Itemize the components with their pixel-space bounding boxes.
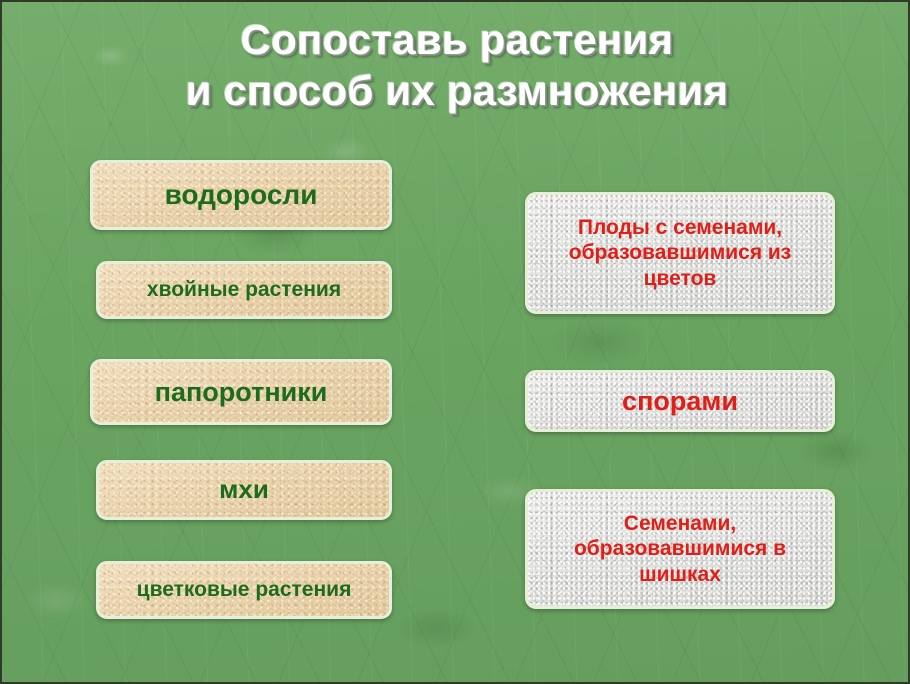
plant-card-label: цветковые растения bbox=[109, 577, 379, 602]
plant-card-label: хвойные растения bbox=[109, 277, 379, 302]
plant-card-label: мхи bbox=[109, 474, 379, 505]
plant-card-label: водоросли bbox=[103, 178, 379, 212]
page-title: Сопоставь растения и способ их размножен… bbox=[2, 14, 910, 116]
plant-card-paporotniki[interactable]: папоротники bbox=[90, 359, 392, 425]
method-card-label: Семенами, образовавшимися в шишках bbox=[538, 511, 822, 587]
method-card-label: спорами bbox=[538, 385, 822, 417]
method-card-label: Плоды с семенами, образовавшимися из цве… bbox=[538, 215, 822, 291]
plant-card-hvoynye-rasteniya[interactable]: хвойные растения bbox=[96, 261, 392, 319]
page-title-line-2: и способ их размножения bbox=[2, 65, 910, 116]
page-title-line-1: Сопоставь растения bbox=[2, 14, 910, 65]
method-card-semenami-v-shishkah[interactable]: Семенами, образовавшимися в шишках bbox=[525, 489, 835, 609]
method-card-sporami[interactable]: спорами bbox=[525, 370, 835, 432]
method-card-plody-s-semenami[interactable]: Плоды с семенами, образовавшимися из цве… bbox=[525, 192, 835, 314]
plant-card-label: папоротники bbox=[103, 376, 379, 408]
plant-card-vodorosli[interactable]: водоросли bbox=[90, 160, 392, 230]
plant-card-mhi[interactable]: мхи bbox=[96, 460, 392, 520]
plant-card-cvetkovye-rasteniya[interactable]: цветковые растения bbox=[96, 561, 392, 619]
slide-canvas: Сопоставь растения и способ их размножен… bbox=[0, 0, 910, 684]
